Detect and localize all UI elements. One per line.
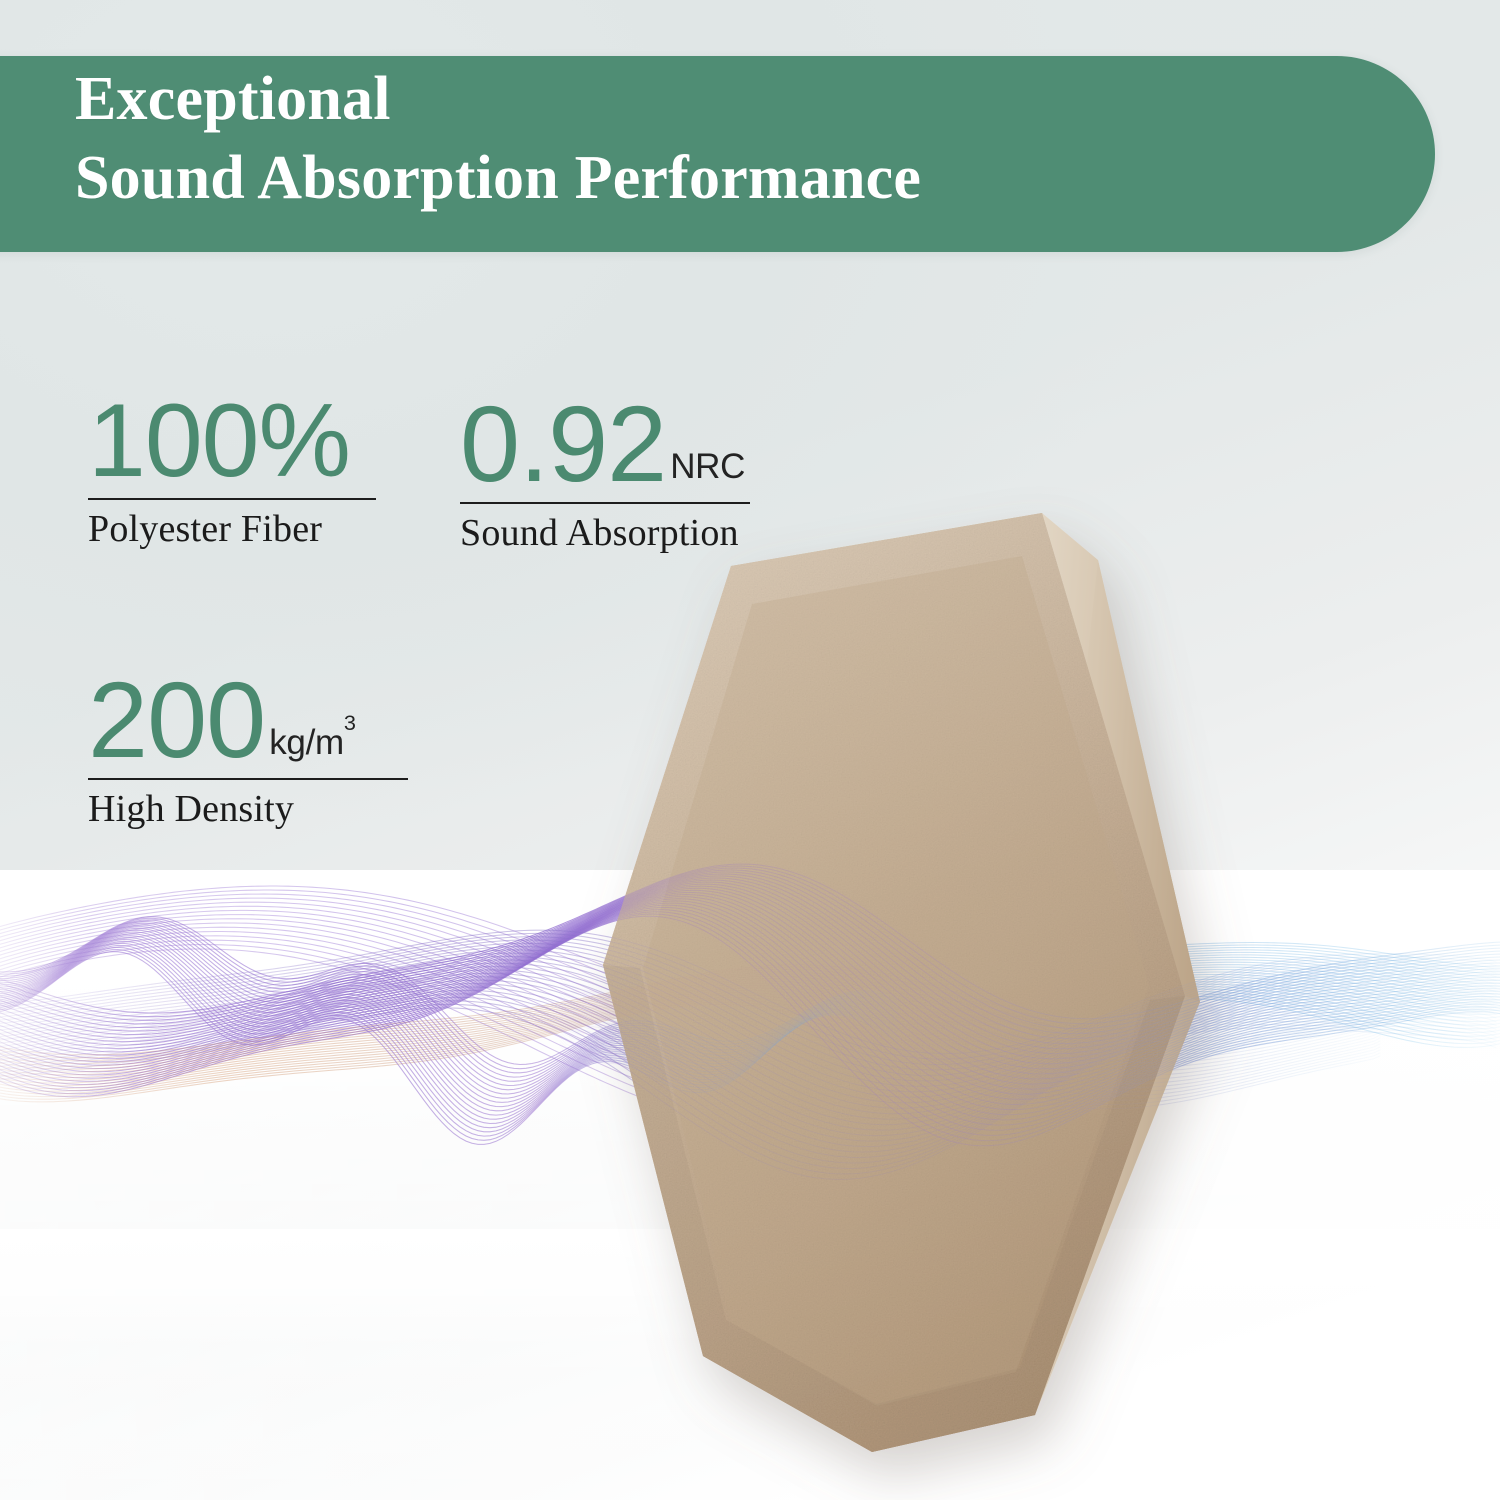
stat-unit-base: kg/m <box>269 723 344 762</box>
stat-value-row: 0.92 NRC <box>460 392 750 496</box>
stat-value: 200 <box>88 668 265 772</box>
stat-card-sound-absorption: 0.92 NRC Sound Absorption <box>460 392 750 557</box>
stat-unit: NRC <box>670 449 745 496</box>
infographic-canvas: Exceptional Sound Absorption Performance… <box>0 0 1500 1500</box>
stat-card-high-density: 200 kg/m3 High Density <box>88 668 408 833</box>
stat-value: 0.92 <box>460 392 666 496</box>
stat-label: Sound Absorption <box>460 504 750 558</box>
page-title: Exceptional Sound Absorption Performance <box>75 60 1405 219</box>
stat-unit: kg/m3 <box>269 725 355 772</box>
stat-value: 100% <box>88 392 350 492</box>
stat-label: Polyester Fiber <box>88 500 376 554</box>
stat-card-polyester-fiber: 100% Polyester Fiber <box>88 392 376 553</box>
stat-value-row: 200 kg/m3 <box>88 668 408 772</box>
stat-label: High Density <box>88 780 408 834</box>
stat-unit-exponent: 3 <box>344 710 356 735</box>
stat-value-row: 100% <box>88 392 376 492</box>
